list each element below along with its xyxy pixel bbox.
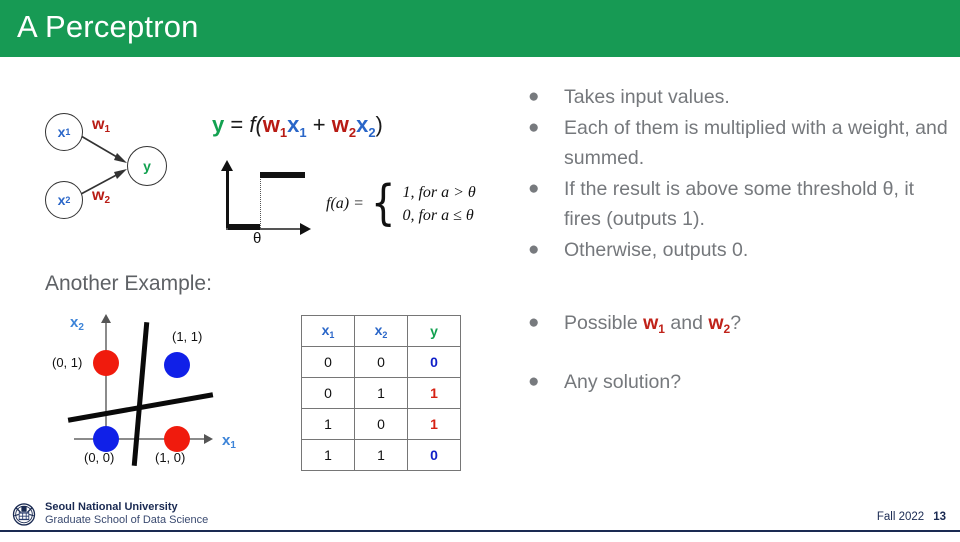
- list-item-question-weights: ● Possible w1 and w2?: [528, 308, 948, 344]
- cell-x1: 1: [302, 409, 355, 440]
- table-header-x2: x2: [355, 316, 408, 347]
- step-graph-high-segment: [260, 172, 305, 178]
- footer-university-name: Seoul National University: [45, 501, 208, 514]
- equation-x1-sub: 1: [299, 125, 306, 140]
- equation-equals: =: [224, 112, 249, 137]
- scatter-point-label-1-0: (1, 0): [155, 450, 185, 465]
- weight-w1-text: w: [92, 116, 104, 133]
- equation-close-paren: ): [376, 112, 383, 137]
- bullet-spacer: [528, 266, 948, 308]
- scatter-point-label-0-0: (0, 0): [84, 450, 114, 465]
- cell-x2: 0: [355, 347, 408, 378]
- scatter-axis-x-sub: 1: [230, 440, 236, 451]
- equation-x2: x: [356, 112, 368, 137]
- footer-logo-block: Seoul National University Graduate Schoo…: [10, 500, 208, 528]
- weight-w1-sub: 1: [104, 124, 110, 135]
- table-row: 0 1 1: [302, 378, 461, 409]
- step-function-graph: θ: [214, 160, 314, 248]
- footer-term: Fall 2022: [877, 511, 924, 523]
- table-row: 0 0 0: [302, 347, 461, 378]
- table-row: 1 1 0: [302, 440, 461, 471]
- step-graph-vertical-axis: [226, 168, 229, 230]
- perceptron-equation: y = f(w1x1 + w2x2): [212, 112, 383, 140]
- bullet-text-question-weights: Possible w1 and w2?: [564, 308, 741, 344]
- scatter-point-1-0: [164, 426, 190, 452]
- node-y-label: y: [143, 158, 151, 174]
- bullet-text: If the result is above some threshold θ,…: [564, 174, 948, 234]
- scatter-axis-label-x1: x1: [222, 432, 236, 451]
- perceptron-weight-label-w2: w2: [92, 187, 110, 206]
- cell-y: 1: [408, 409, 461, 440]
- piecewise-fa-label: f(a) =: [326, 195, 364, 213]
- footer-page-number: 13: [933, 511, 946, 523]
- table-header-row: x1 x2 y: [302, 316, 461, 347]
- equation-w2: w: [332, 112, 349, 137]
- list-item: ● Otherwise, outputs 0.: [528, 235, 948, 265]
- bullet-text: Otherwise, outputs 0.: [564, 235, 748, 265]
- cell-x2: 1: [355, 378, 408, 409]
- node-x1-sub: 1: [65, 127, 70, 137]
- cell-y: 0: [408, 440, 461, 471]
- snu-emblem-logo-icon: [10, 500, 38, 528]
- footer-text-block: Seoul National University Graduate Schoo…: [45, 501, 208, 527]
- scatter-axis-label-x2: x2: [70, 314, 84, 333]
- piecewise-case-1: 1, for a > θ: [402, 181, 475, 204]
- cell-x1: 1: [302, 440, 355, 471]
- another-example-heading: Another Example:: [45, 272, 212, 296]
- bullet-dot-icon: ●: [528, 113, 564, 143]
- equation-w2-sub: 2: [349, 125, 356, 140]
- step-graph-low-segment: [228, 224, 260, 230]
- list-item: ● Takes input values.: [528, 82, 948, 112]
- cell-x2: 1: [355, 440, 408, 471]
- equation-y: y: [212, 112, 224, 137]
- bullet-dot-icon: ●: [528, 235, 564, 265]
- equation-x1: x: [287, 112, 299, 137]
- bullet-list: ● Takes input values. ● Each of them is …: [528, 82, 948, 398]
- perceptron-diagram: x1 x2 y w1 w2: [34, 100, 214, 230]
- question-prefix: Possible: [564, 312, 643, 334]
- table-header-x1: x1: [302, 316, 355, 347]
- question-mid: and: [665, 312, 708, 334]
- decision-boundary-line-vertical: [132, 322, 150, 466]
- xor-truth-table: x1 x2 y 0 0 0 0 1 1 1 0 1 1 1 0: [301, 315, 461, 471]
- bullet-text: Each of them is multiplied with a weight…: [564, 113, 948, 173]
- cell-x1: 0: [302, 347, 355, 378]
- scatter-point-0-0: [93, 426, 119, 452]
- bullet-dot-icon: ●: [528, 82, 564, 112]
- weight-w2-sub: 2: [104, 195, 110, 206]
- footer-meta: Fall 202213: [877, 511, 946, 523]
- list-item: ● If the result is above some threshold …: [528, 174, 948, 234]
- perceptron-weight-label-w1: w1: [92, 116, 110, 135]
- bullet-text: Takes input values.: [564, 82, 730, 112]
- step-graph-dotted-riser: [260, 176, 261, 228]
- perceptron-input-node-x2: x2: [45, 181, 83, 219]
- scatter-point-1-1: [164, 352, 190, 378]
- scatter-point-0-1: [93, 350, 119, 376]
- list-item-question-solution: ● Any solution?: [528, 367, 948, 397]
- scatter-point-label-0-1: (0, 1): [52, 355, 82, 370]
- bullet-dot-icon: ●: [528, 367, 564, 397]
- equation-plus: +: [307, 112, 332, 137]
- bullet-text-question-solution: Any solution?: [564, 367, 681, 397]
- equation-f-open: f(: [249, 112, 262, 137]
- step-graph-threshold-label: θ: [253, 230, 261, 247]
- scatter-axis-y-sub: 2: [78, 322, 84, 333]
- step-graph-vertical-axis-arrow-icon: [221, 160, 233, 171]
- bullet-dot-icon: ●: [528, 174, 564, 204]
- xor-scatter-plot: x2 x1 (0, 1) (1, 1) (0, 0) (1, 0): [50, 308, 260, 473]
- scatter-vertical-axis-arrow-icon: [101, 314, 111, 323]
- equation-w1: w: [263, 112, 280, 137]
- piecewise-function-definition: f(a) = { 1, for a > θ 0, for a ≤ θ: [326, 181, 476, 227]
- table-row: 1 0 1: [302, 409, 461, 440]
- cell-y: 1: [408, 378, 461, 409]
- step-graph-horizontal-axis-arrow-icon: [300, 223, 311, 235]
- question-w1: w: [643, 312, 658, 334]
- question-w1-sub: 1: [658, 322, 665, 336]
- node-x1-label: x: [58, 124, 66, 140]
- cell-x2: 0: [355, 409, 408, 440]
- cell-y: 0: [408, 347, 461, 378]
- list-item: ● Each of them is multiplied with a weig…: [528, 113, 948, 173]
- bullet-dot-icon: ●: [528, 308, 564, 338]
- page-title: A Perceptron: [17, 9, 199, 45]
- footer-divider: [0, 530, 960, 532]
- piecewise-case-2: 0, for a ≤ θ: [402, 204, 475, 227]
- perceptron-input-node-x1: x1: [45, 113, 83, 151]
- table-header-y: y: [408, 316, 461, 347]
- perceptron-output-node-y: y: [127, 146, 167, 186]
- cell-x1: 0: [302, 378, 355, 409]
- question-suffix: ?: [730, 312, 741, 334]
- footer-school-name: Graduate School of Data Science: [45, 514, 208, 527]
- equation-x2-sub: 2: [368, 125, 375, 140]
- node-x2-label: x: [58, 192, 66, 208]
- bullet-spacer-2: [528, 345, 948, 367]
- piecewise-brace-glyph: {: [371, 184, 395, 223]
- scatter-horizontal-axis-arrow-icon: [204, 434, 213, 444]
- question-w2: w: [708, 312, 723, 334]
- weight-w2-text: w: [92, 187, 104, 204]
- scatter-point-label-1-1: (1, 1): [172, 329, 202, 344]
- piecewise-cases: 1, for a > θ 0, for a ≤ θ: [402, 181, 475, 227]
- node-x2-sub: 2: [65, 195, 70, 205]
